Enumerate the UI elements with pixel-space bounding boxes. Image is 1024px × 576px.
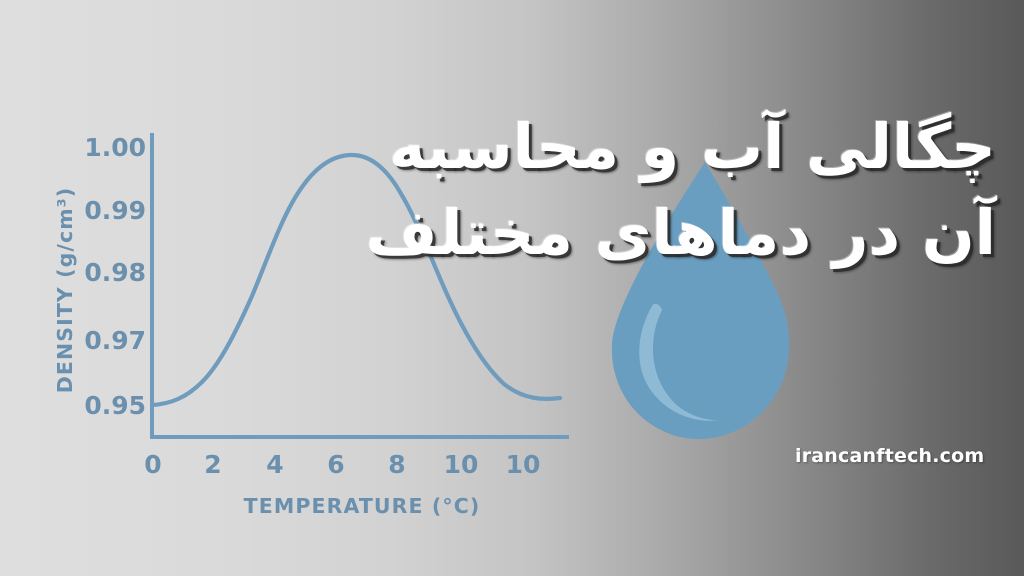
y-tick-label-2: 0.98 [84, 258, 146, 287]
site-watermark: irancanftech.com [795, 445, 984, 467]
density-curve [152, 155, 560, 405]
density-temperature-chart: 1.00 0.99 0.98 0.97 0.95 0 2 4 6 8 10 10… [0, 0, 620, 540]
x-tick-label-5: 10 [444, 450, 479, 479]
chart-svg: 1.00 0.99 0.98 0.97 0.95 0 2 4 6 8 10 10… [0, 0, 620, 540]
x-tick-label-4: 8 [388, 450, 405, 479]
water-droplet-icon [600, 158, 810, 444]
droplet-body [612, 162, 790, 439]
x-axis-title: TEMPERATURE (°C) [244, 494, 481, 518]
y-tick-label-3: 0.97 [84, 326, 146, 355]
x-tick-label-6: 10 [506, 450, 541, 479]
x-tick-label-2: 4 [266, 450, 283, 479]
y-axis-title: DENSITY (g/cm³) [53, 187, 77, 393]
thumbnail-canvas: 1.00 0.99 0.98 0.97 0.95 0 2 4 6 8 10 10… [0, 0, 1024, 576]
y-tick-label-0: 1.00 [84, 133, 146, 162]
y-tick-label-4: 0.95 [84, 391, 146, 420]
x-tick-label-1: 2 [204, 450, 221, 479]
x-tick-label-3: 6 [327, 450, 344, 479]
y-tick-label-1: 0.99 [84, 196, 146, 225]
x-tick-label-0: 0 [144, 450, 161, 479]
